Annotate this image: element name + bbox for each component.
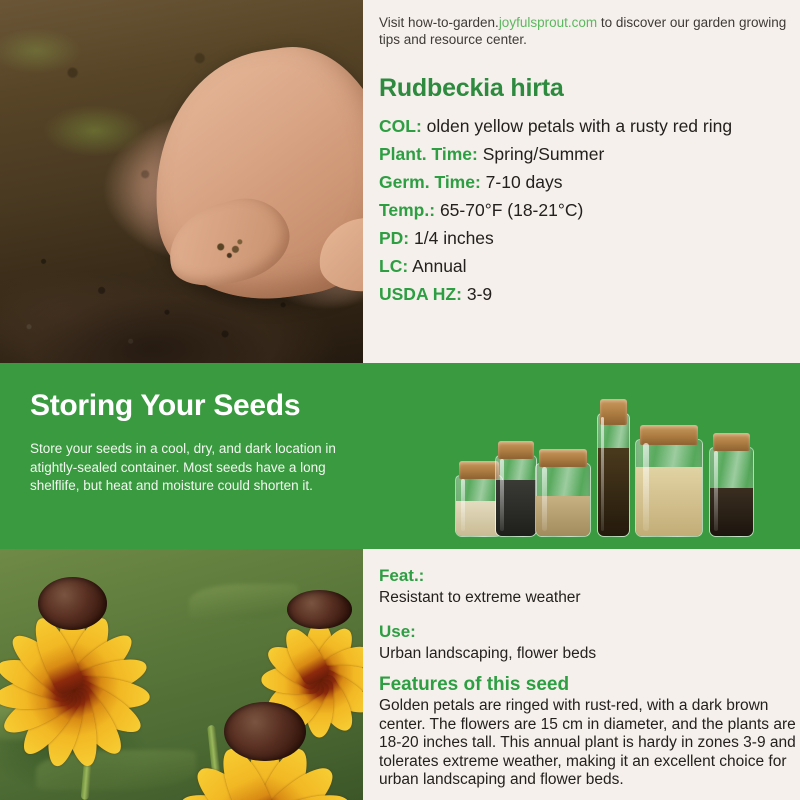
jar-wide-flat [635, 425, 703, 537]
spec-row-temp: Temp.: 65-70°F (18-21°C) [379, 196, 800, 224]
rudbeckia-flowers-photo [0, 549, 363, 800]
use-block: Use: Urban landscaping, flower beds [379, 621, 799, 664]
spec-row-col: COL: olden yellow petals with a rusty re… [379, 112, 800, 140]
jar-sunflower [709, 433, 754, 537]
feat-value: Resistant to extreme weather [379, 587, 799, 608]
flower-bloom [0, 549, 174, 690]
spec-value: 65-70°F (18-21°C) [440, 200, 583, 220]
storing-seeds-band: Storing Your Seeds Store your seeds in a… [0, 363, 800, 549]
cork-lid [539, 449, 586, 467]
spec-row-germ-time: Germ. Time: 7-10 days [379, 168, 800, 196]
spec-label: Germ. Time: [379, 172, 481, 192]
spec-list: COL: olden yellow petals with a rusty re… [379, 112, 800, 308]
cork-lid [498, 441, 533, 459]
cork-lid [640, 425, 697, 445]
seed-packet-infographic: Visit how-to-garden.joyfulsprout.com to … [0, 0, 800, 800]
spec-row-plant-time: Plant. Time: Spring/Summer [379, 140, 800, 168]
spec-row-usda-hz: USDA HZ: 3-9 [379, 280, 800, 308]
flower-center [287, 590, 351, 629]
spec-value: 1/4 inches [414, 228, 494, 248]
use-value: Urban landscaping, flower beds [379, 643, 799, 664]
jar-sand-seeds [535, 449, 591, 537]
spec-value: 3-9 [467, 284, 492, 304]
use-label: Use: [379, 621, 799, 643]
spec-label: Temp.: [379, 200, 435, 220]
spec-value: 7-10 days [486, 172, 563, 192]
website-link[interactable]: joyfulsprout.com [499, 15, 597, 30]
storing-body: Store your seeds in a cool, dry, and dar… [30, 440, 360, 496]
flower-center [224, 702, 305, 762]
jar-tall-dark [597, 399, 630, 537]
visit-website-line: Visit how-to-garden.joyfulsprout.com to … [379, 14, 794, 48]
page-title: Rudbeckia hirta [379, 74, 564, 103]
spec-label: Plant. Time: [379, 144, 478, 164]
flower-center [38, 577, 107, 630]
spec-value: Annual [412, 256, 467, 276]
spec-label: LC: [379, 256, 408, 276]
spec-row-lc: LC: Annual [379, 252, 800, 280]
storing-title: Storing Your Seeds [30, 389, 300, 423]
flower-bloom [145, 654, 363, 800]
features-body: Golden petals are ringed with rust-red, … [379, 697, 800, 790]
spec-value: Spring/Summer [483, 144, 605, 164]
visit-prefix: Visit how-to-garden. [379, 15, 499, 30]
spec-label: USDA HZ: [379, 284, 462, 304]
features-heading: Features of this seed [379, 674, 569, 696]
spec-value: olden yellow petals with a rusty red rin… [427, 116, 732, 136]
hand-sowing-seeds-photo [0, 0, 363, 363]
spec-label: PD: [379, 228, 409, 248]
cork-lid [459, 461, 499, 479]
features-panel: Feat.: Resistant to extreme weather Use:… [363, 549, 800, 800]
feat-block: Feat.: Resistant to extreme weather [379, 565, 799, 608]
species-info-panel: Visit how-to-garden.joyfulsprout.com to … [363, 0, 800, 363]
seed-jars-illustration [455, 381, 785, 537]
spec-row-pd: PD: 1/4 inches [379, 224, 800, 252]
spec-label: COL: [379, 116, 422, 136]
feat-label: Feat.: [379, 565, 799, 587]
cork-lid [713, 433, 751, 451]
jar-dark-grains [495, 441, 537, 537]
